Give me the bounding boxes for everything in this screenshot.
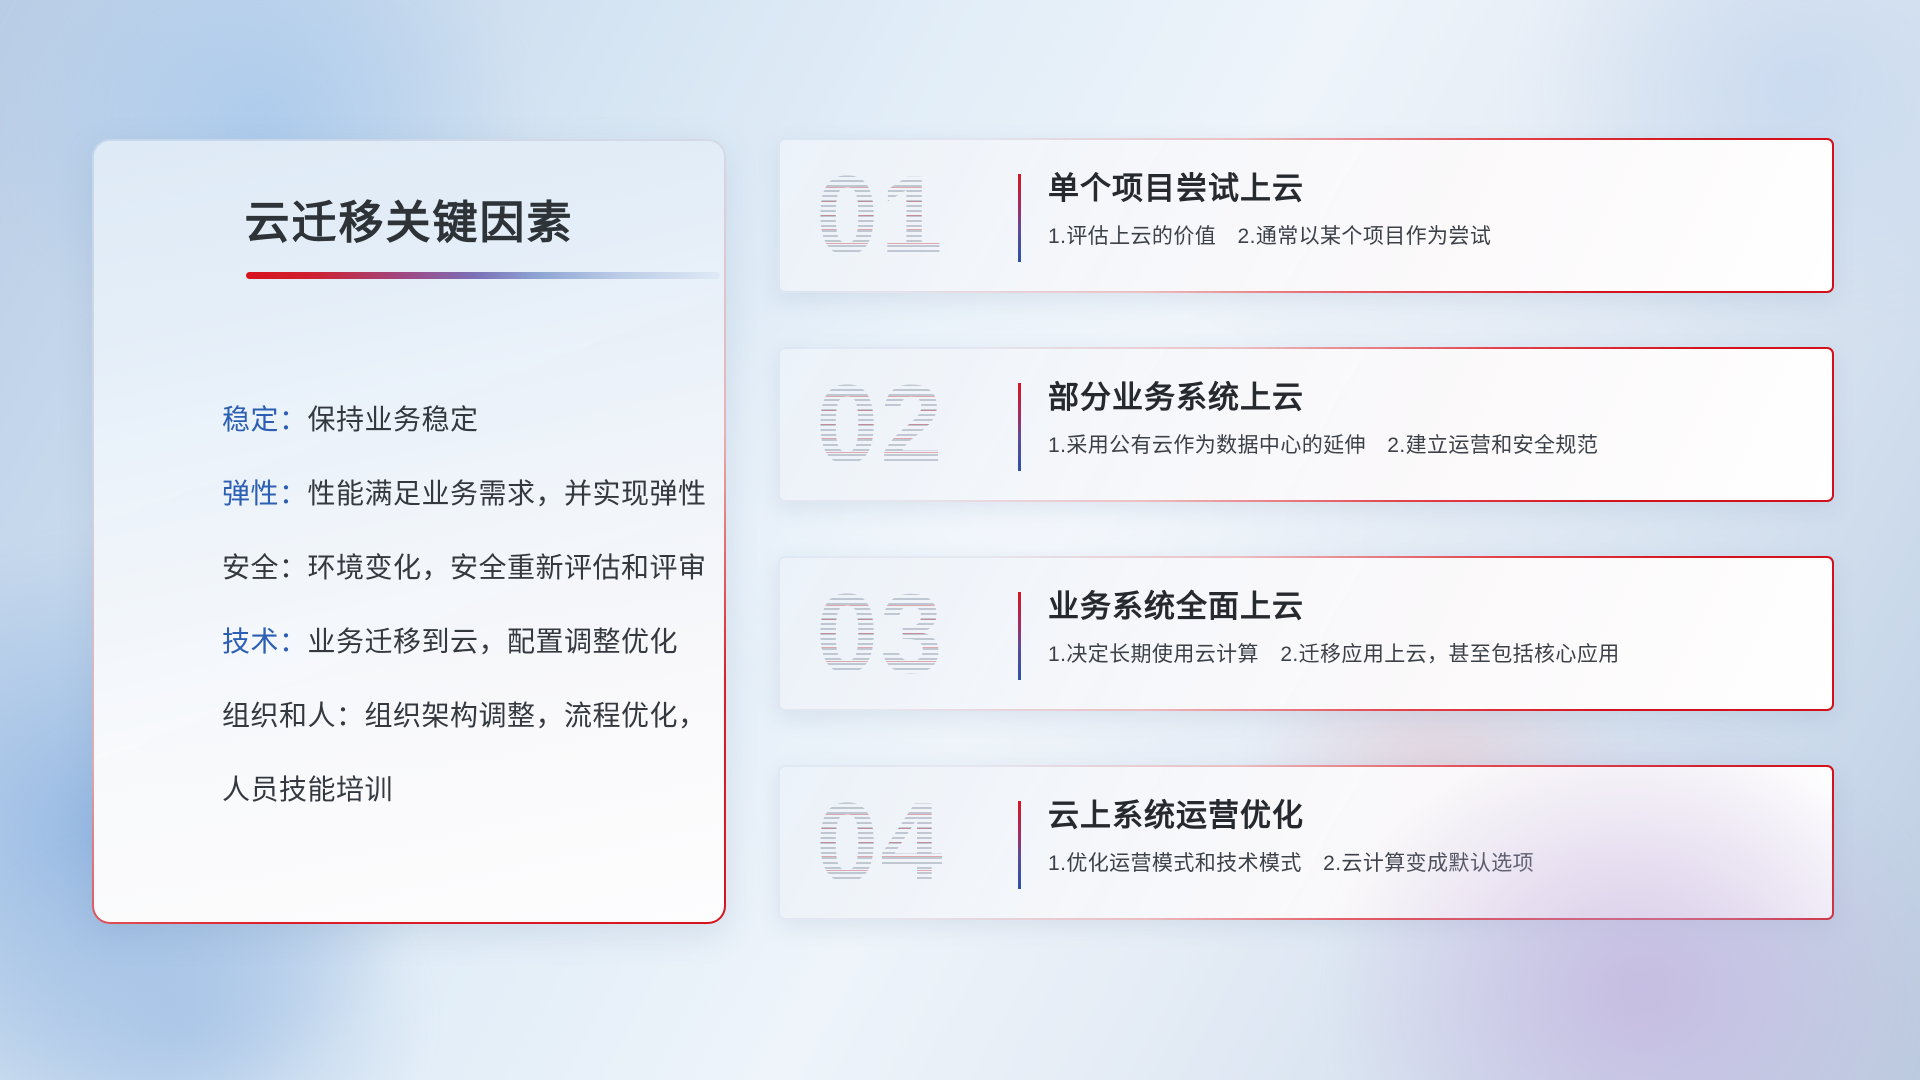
stage-card-subtext: 1.评估上云的价值 2.通常以某个项目作为尝试 xyxy=(1048,222,1808,252)
stage-card[interactable]: 03 03 业务系统全面上云 1.决定长期使用云计算 2.迁移应用上云，甚至包括… xyxy=(778,556,1834,711)
stage-number-ghost-tint: 01 xyxy=(816,160,945,272)
title-underline-rule xyxy=(246,272,720,279)
list-item-key: 安全： xyxy=(222,552,308,583)
key-factors-panel: 云迁移关键因素 稳定：保持业务稳定 弹性：性能满足业务需求，并实现弹性 安全：环… xyxy=(92,139,726,924)
stage-card-body: 云上系统运营优化 1.优化运营模式和技术模式 2.云计算变成默认选项 xyxy=(1048,793,1808,879)
slide-canvas: 云迁移关键因素 稳定：保持业务稳定 弹性：性能满足业务需求，并实现弹性 安全：环… xyxy=(0,0,1920,1080)
list-item-value: 人员技能培训 xyxy=(222,774,393,805)
stage-card-body: 业务系统全面上云 1.决定长期使用云计算 2.迁移应用上云，甚至包括核心应用 xyxy=(1048,584,1808,670)
stage-card-body: 单个项目尝试上云 1.评估上云的价值 2.通常以某个项目作为尝试 xyxy=(1048,166,1808,252)
list-item-value: 组织架构调整，流程优化， xyxy=(365,700,707,731)
stage-card-subtext: 1.采用公有云作为数据中心的延伸 2.建立运营和安全规范 xyxy=(1048,431,1808,461)
migration-stage-cards: 01 01 单个项目尝试上云 1.评估上云的价值 2.通常以某个项目作为尝试 0… xyxy=(778,138,1834,920)
list-item-key: 稳定： xyxy=(222,404,308,435)
stage-number-ghost-tint: 03 xyxy=(816,578,945,690)
key-factors-list: 稳定：保持业务稳定 弹性：性能满足业务需求，并实现弹性 安全：环境变化，安全重新… xyxy=(222,383,696,827)
list-item-value: 业务迁移到云，配置调整优化 xyxy=(308,626,679,657)
stage-card-heading: 云上系统运营优化 xyxy=(1048,793,1808,839)
panel-title: 云迁移关键因素 xyxy=(94,186,724,251)
list-item-continuation: 人员技能培训 xyxy=(222,753,696,827)
list-item-key: 弹性： xyxy=(222,478,308,509)
stage-divider-bar xyxy=(1018,174,1021,262)
list-item: 稳定：保持业务稳定 xyxy=(222,383,696,457)
list-item: 技术：业务迁移到云，配置调整优化 xyxy=(222,605,696,679)
stage-card-subtext: 1.优化运营模式和技术模式 2.云计算变成默认选项 xyxy=(1048,849,1808,879)
stage-card[interactable]: 01 01 单个项目尝试上云 1.评估上云的价值 2.通常以某个项目作为尝试 xyxy=(778,138,1834,293)
list-item-key: 组织和人： xyxy=(222,700,365,731)
list-item-value: 环境变化，安全重新评估和评审 xyxy=(308,552,707,583)
stage-divider-bar xyxy=(1018,592,1021,680)
list-item: 安全：环境变化，安全重新评估和评审 xyxy=(222,531,696,605)
stage-card[interactable]: 02 02 部分业务系统上云 1.采用公有云作为数据中心的延伸 2.建立运营和安… xyxy=(778,347,1834,502)
list-item-value: 保持业务稳定 xyxy=(308,404,479,435)
stage-number-ghost-tint: 02 xyxy=(816,369,945,481)
list-item-key: 技术： xyxy=(222,626,308,657)
stage-card-subtext: 1.决定长期使用云计算 2.迁移应用上云，甚至包括核心应用 xyxy=(1048,640,1808,670)
stage-card-body: 部分业务系统上云 1.采用公有云作为数据中心的延伸 2.建立运营和安全规范 xyxy=(1048,375,1808,461)
stage-card-heading: 单个项目尝试上云 xyxy=(1048,166,1808,212)
stage-divider-bar xyxy=(1018,383,1021,471)
stage-card-heading: 部分业务系统上云 xyxy=(1048,375,1808,421)
stage-card[interactable]: 04 04 云上系统运营优化 1.优化运营模式和技术模式 2.云计算变成默认选项 xyxy=(778,765,1834,920)
stage-divider-bar xyxy=(1018,801,1021,889)
list-item-value: 性能满足业务需求，并实现弹性 xyxy=(308,478,707,509)
stage-number-ghost-tint: 04 xyxy=(816,787,945,899)
list-item: 组织和人：组织架构调整，流程优化， xyxy=(222,679,696,753)
stage-card-heading: 业务系统全面上云 xyxy=(1048,584,1808,630)
list-item: 弹性：性能满足业务需求，并实现弹性 xyxy=(222,457,696,531)
